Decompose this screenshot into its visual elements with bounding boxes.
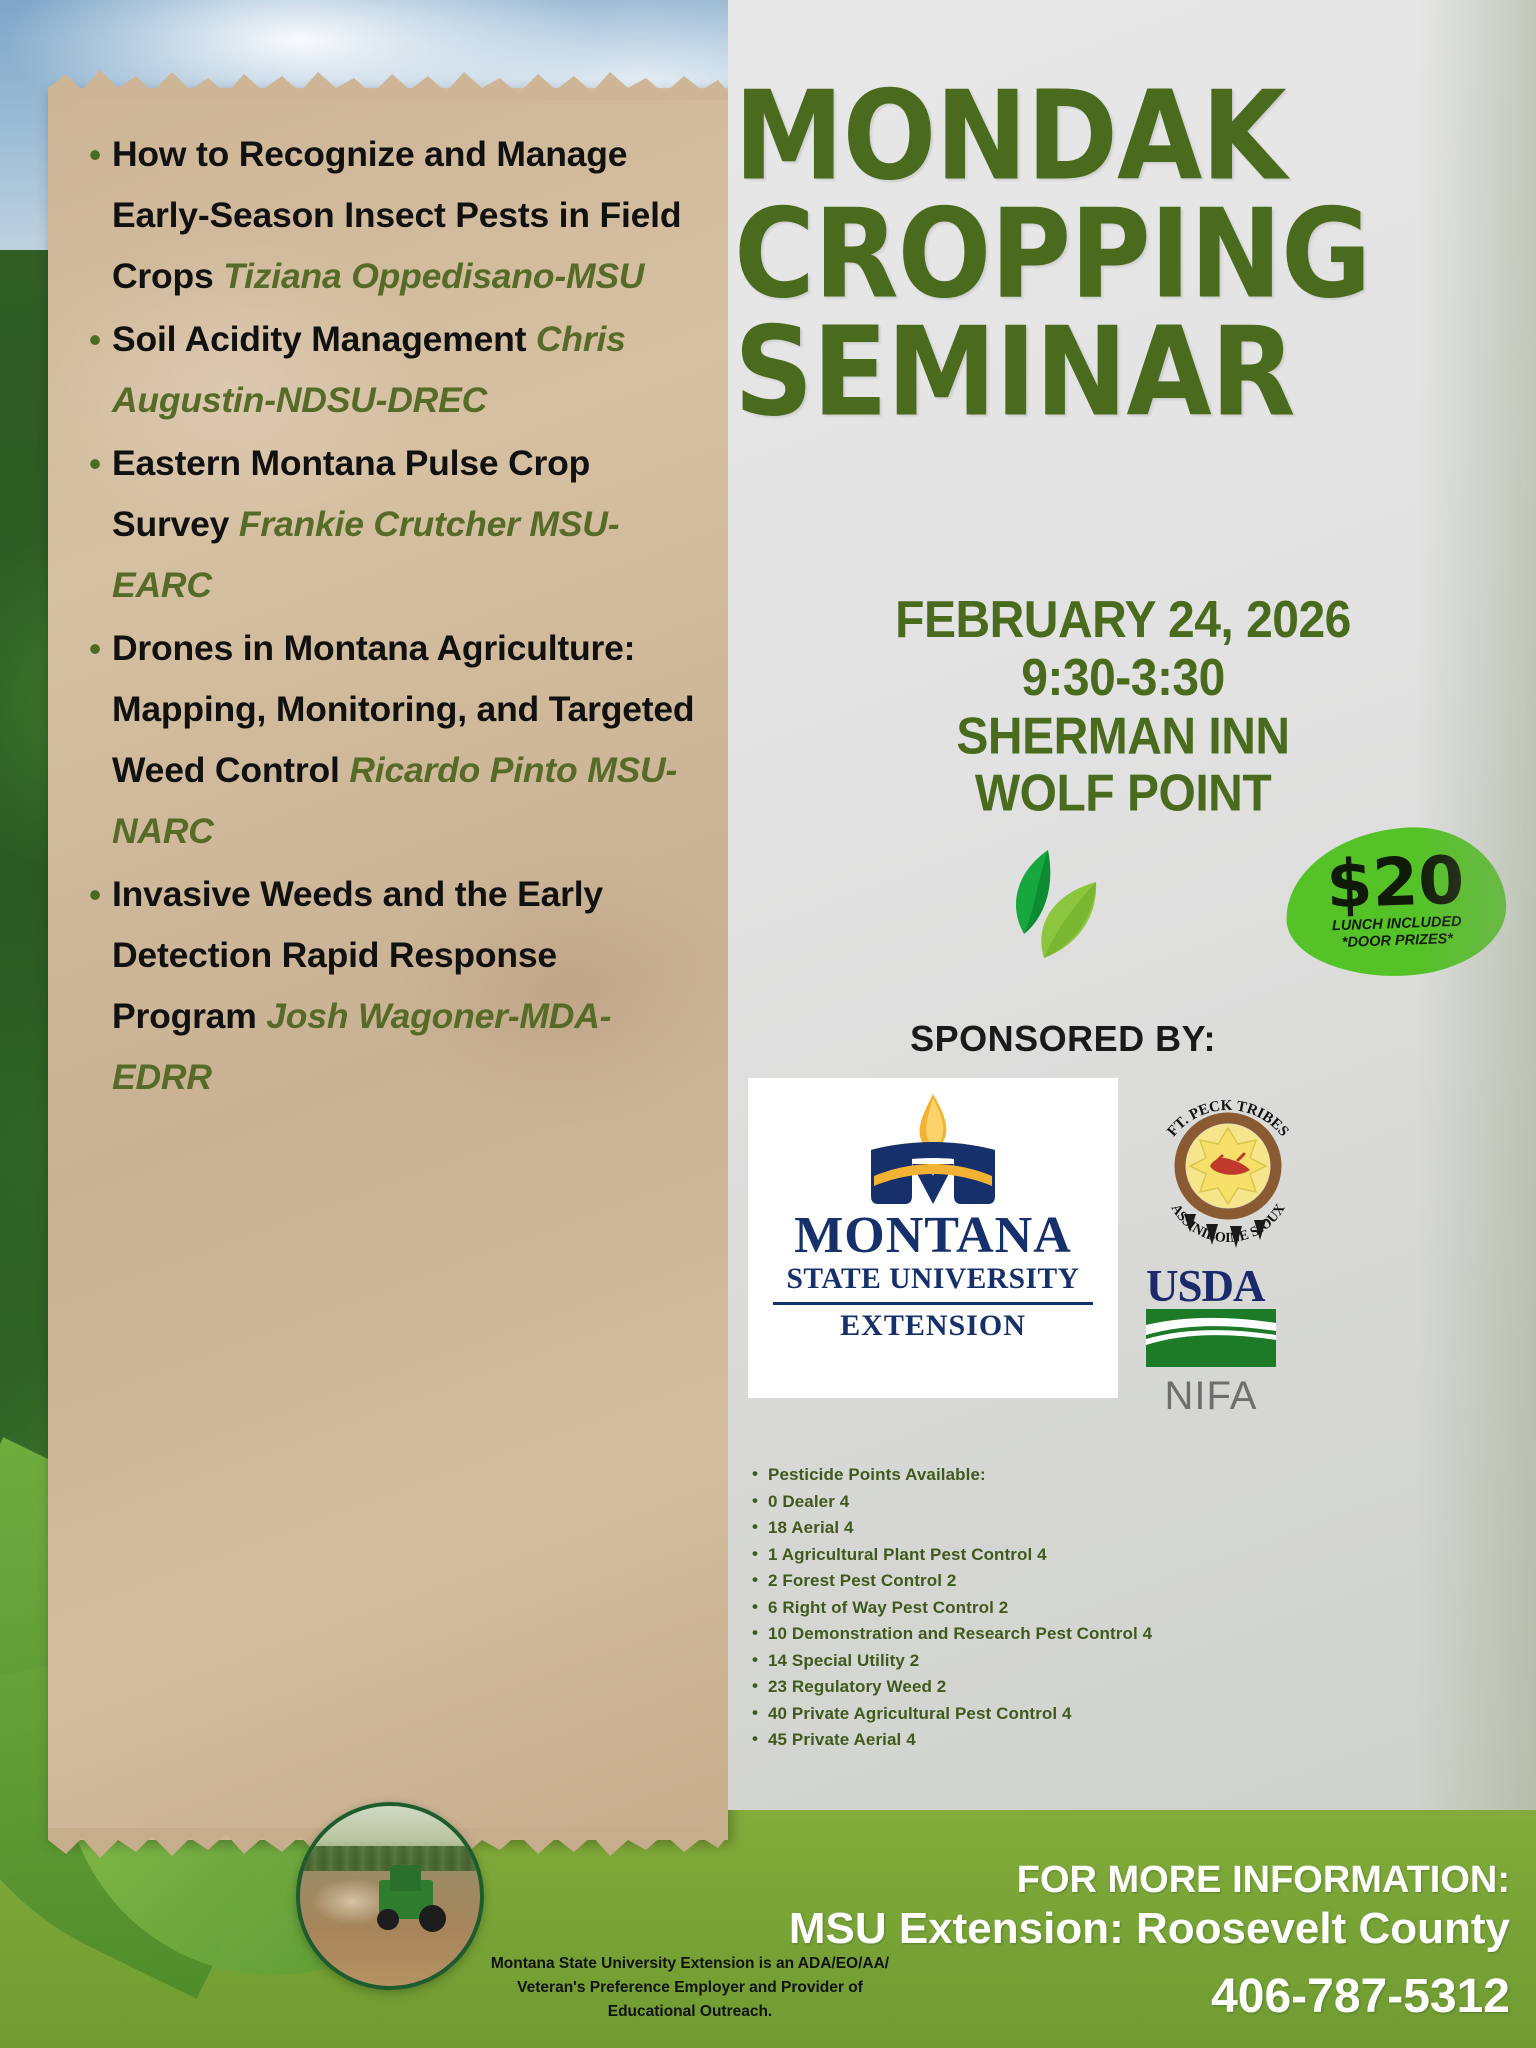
bullet-dot-icon: • — [78, 124, 112, 186]
leaf-pair-icon — [1000, 842, 1110, 962]
headline-line-2: CROPPING — [734, 196, 1476, 314]
tractor-rear-wheel — [419, 1905, 446, 1932]
msu-extension-text: EXTENSION — [840, 1309, 1026, 1343]
agenda-item: • Invasive Weeds and the Early Detection… — [78, 864, 708, 1108]
event-details: FEBRUARY 24, 2026 9:30-3:30 SHERMAN INN … — [728, 591, 1518, 823]
pesticide-point-item: 18 Aerial 4 — [748, 1515, 1508, 1542]
price-badge: $20 LUNCH INCLUDED *DOOR PRIZES* — [1283, 824, 1508, 980]
pesticide-point-item: 14 Special Utility 2 — [748, 1648, 1508, 1675]
pesticide-point-item: 23 Regulatory Weed 2 — [748, 1674, 1508, 1701]
agenda-paper-panel: • How to Recognize and Manage Early-Seas… — [48, 88, 728, 1840]
sponsored-by-label: SPONSORED BY: — [738, 1018, 1388, 1060]
tractor-front-wheel — [377, 1909, 399, 1931]
msu-montana-text: MONTANA — [787, 1210, 1080, 1262]
agenda-item-text: Soil Acidity Management Chris Augustin-N… — [112, 309, 708, 431]
event-time: 9:30-3:30 — [728, 649, 1518, 707]
poster-root: • How to Recognize and Manage Early-Seas… — [0, 0, 1536, 2048]
bullet-dot-icon: • — [78, 618, 112, 680]
pesticide-point-item: 2 Forest Pest Control 2 — [748, 1568, 1508, 1595]
agenda-item-speaker: Tiziana Oppedisano-MSU — [223, 256, 644, 296]
torn-edge-top-icon — [48, 66, 728, 100]
tractor-photo — [296, 1802, 484, 1990]
event-date: FEBRUARY 24, 2026 — [728, 591, 1518, 649]
pesticide-point-item: 6 Right of Way Pest Control 2 — [748, 1595, 1508, 1622]
event-city: WOLF POINT — [728, 766, 1518, 824]
price-amount: $20 — [1325, 848, 1465, 919]
msu-extension-logo: MONTANA STATE UNIVERSITY EXTENSION — [748, 1078, 1118, 1398]
headline-line-3: SEMINAR — [734, 314, 1476, 432]
for-more-information-label: FOR MORE INFORMATION: — [720, 1861, 1510, 1900]
bullet-dot-icon: • — [78, 309, 112, 371]
nifa-text: NIFA — [1146, 1376, 1276, 1416]
pesticide-point-item: 0 Dealer 4 — [748, 1489, 1508, 1516]
bullet-dot-icon: • — [78, 864, 112, 926]
agenda-item-title: Soil Acidity Management — [112, 319, 536, 359]
pesticide-point-item: 40 Private Agricultural Pest Control 4 — [748, 1701, 1508, 1728]
agenda-list: • How to Recognize and Manage Early-Seas… — [78, 124, 708, 1110]
event-venue: SHERMAN INN — [728, 708, 1518, 766]
pesticide-point-item: 45 Private Aerial 4 — [748, 1727, 1508, 1754]
agenda-item-text: Invasive Weeds and the Early Detection R… — [112, 864, 708, 1108]
msu-state-university-text: STATE UNIVERSITY — [787, 1262, 1080, 1297]
svg-text:ASSINIBOINE SIOUX: ASSINIBOINE SIOUX — [1168, 1202, 1289, 1246]
msu-divider — [773, 1302, 1093, 1305]
agenda-item-text: How to Recognize and Manage Early-Season… — [112, 124, 708, 307]
eeo-disclaimer-text: Montana State University Extension is an… — [490, 1952, 890, 2024]
headline-line-1: MONDAK — [734, 78, 1476, 196]
page-title: MONDAK CROPPING SEMINAR — [734, 78, 1476, 431]
tractor-cab — [390, 1865, 421, 1890]
agenda-item: • Drones in Montana Agriculture: Mapping… — [78, 618, 708, 862]
agenda-item: • Eastern Montana Pulse Crop Survey Fran… — [78, 433, 708, 616]
usda-field-icon — [1146, 1309, 1276, 1367]
msu-wordmark: MONTANA STATE UNIVERSITY — [787, 1210, 1080, 1297]
pesticide-point-item: 1 Agricultural Plant Pest Control 4 — [748, 1542, 1508, 1569]
usda-nifa-logo: USDA NIFA — [1146, 1264, 1276, 1416]
ft-peck-tribes-seal-icon: FT. PECK TRIBES ASSINIBOINE SIOUX — [1138, 1082, 1318, 1257]
contact-phone-number[interactable]: 406-787-5312 — [900, 1973, 1510, 2022]
usda-text: USDA — [1146, 1264, 1276, 1309]
pesticide-point-item: 10 Demonstration and Research Pest Contr… — [748, 1621, 1508, 1648]
pesticide-points-list: Pesticide Points Available: 0 Dealer 4 1… — [748, 1462, 1508, 1754]
msu-m-flame-icon — [858, 1092, 1008, 1210]
bullet-dot-icon: • — [78, 433, 112, 495]
agenda-item-text: Drones in Montana Agriculture: Mapping, … — [112, 618, 708, 862]
agenda-item-text: Eastern Montana Pulse Crop Survey Franki… — [112, 433, 708, 616]
pesticide-point-item: Pesticide Points Available: — [748, 1462, 1508, 1489]
right-info-column: MONDAK CROPPING SEMINAR FEBRUARY 24, 202… — [728, 0, 1536, 1810]
agenda-item: • How to Recognize and Manage Early-Seas… — [78, 124, 708, 307]
agenda-item: • Soil Acidity Management Chris Augustin… — [78, 309, 708, 431]
extension-office-name: MSU Extension: Roosevelt County — [500, 1907, 1510, 1952]
price-note-door-prizes: *DOOR PRIZES* — [1342, 931, 1454, 952]
